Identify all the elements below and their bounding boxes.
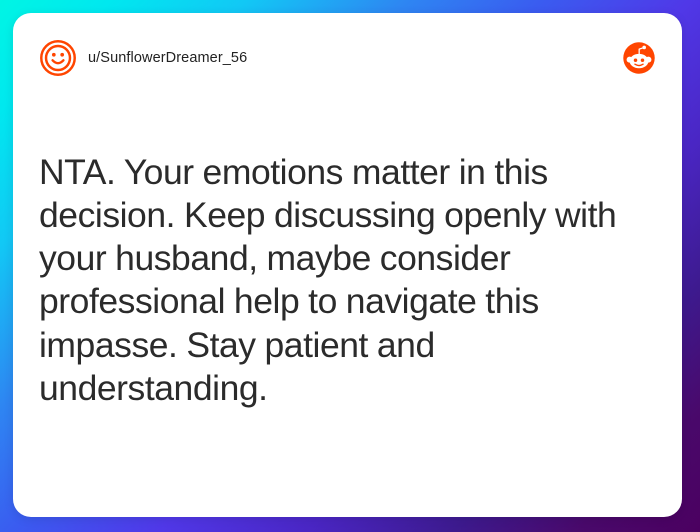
reddit-post-card: u/SunflowerDreamer_56 NTA. Your emotions [13, 13, 682, 517]
reddit-snoo-icon[interactable] [622, 41, 656, 75]
screenshot-canvas: u/SunflowerDreamer_56 NTA. Your emotions [0, 0, 700, 532]
author-block[interactable]: u/SunflowerDreamer_56 [39, 39, 622, 77]
smiley-face-icon [39, 39, 77, 77]
post-header: u/SunflowerDreamer_56 [13, 13, 682, 103]
author-username: u/SunflowerDreamer_56 [88, 51, 247, 66]
post-body-text: NTA. Your emotions matter in this decisi… [39, 151, 662, 410]
